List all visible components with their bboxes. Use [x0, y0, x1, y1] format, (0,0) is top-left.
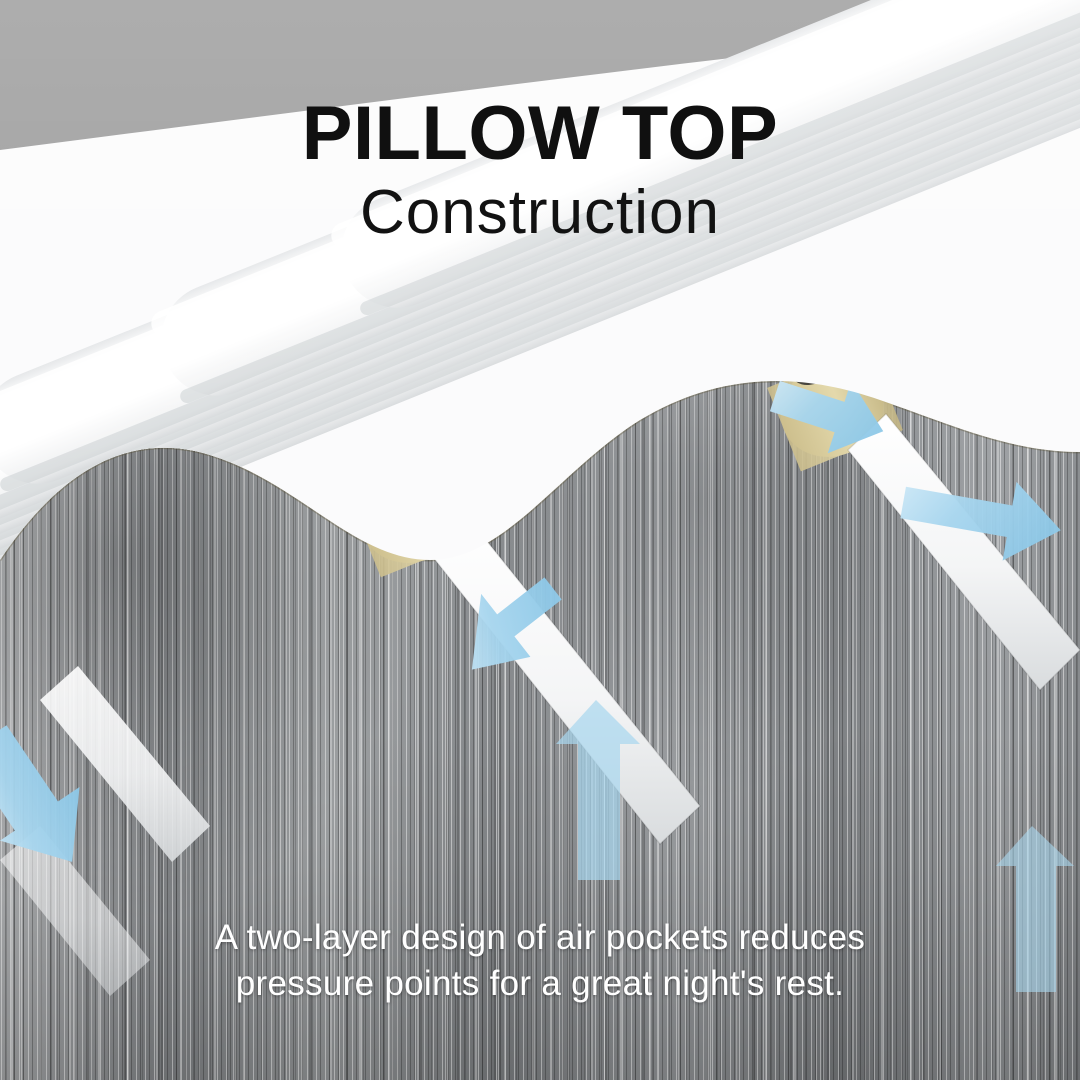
- caption-block: A two-layer design of air pockets reduce…: [0, 915, 1080, 1007]
- caption-line-2: pressure points for a great night's rest…: [0, 961, 1080, 1007]
- tube-highlight-overlay: [0, 0, 1080, 600]
- infographic-canvas: PILLOW TOP Construction A two-layer desi…: [0, 0, 1080, 1080]
- caption-line-1: A two-layer design of air pockets reduce…: [0, 915, 1080, 961]
